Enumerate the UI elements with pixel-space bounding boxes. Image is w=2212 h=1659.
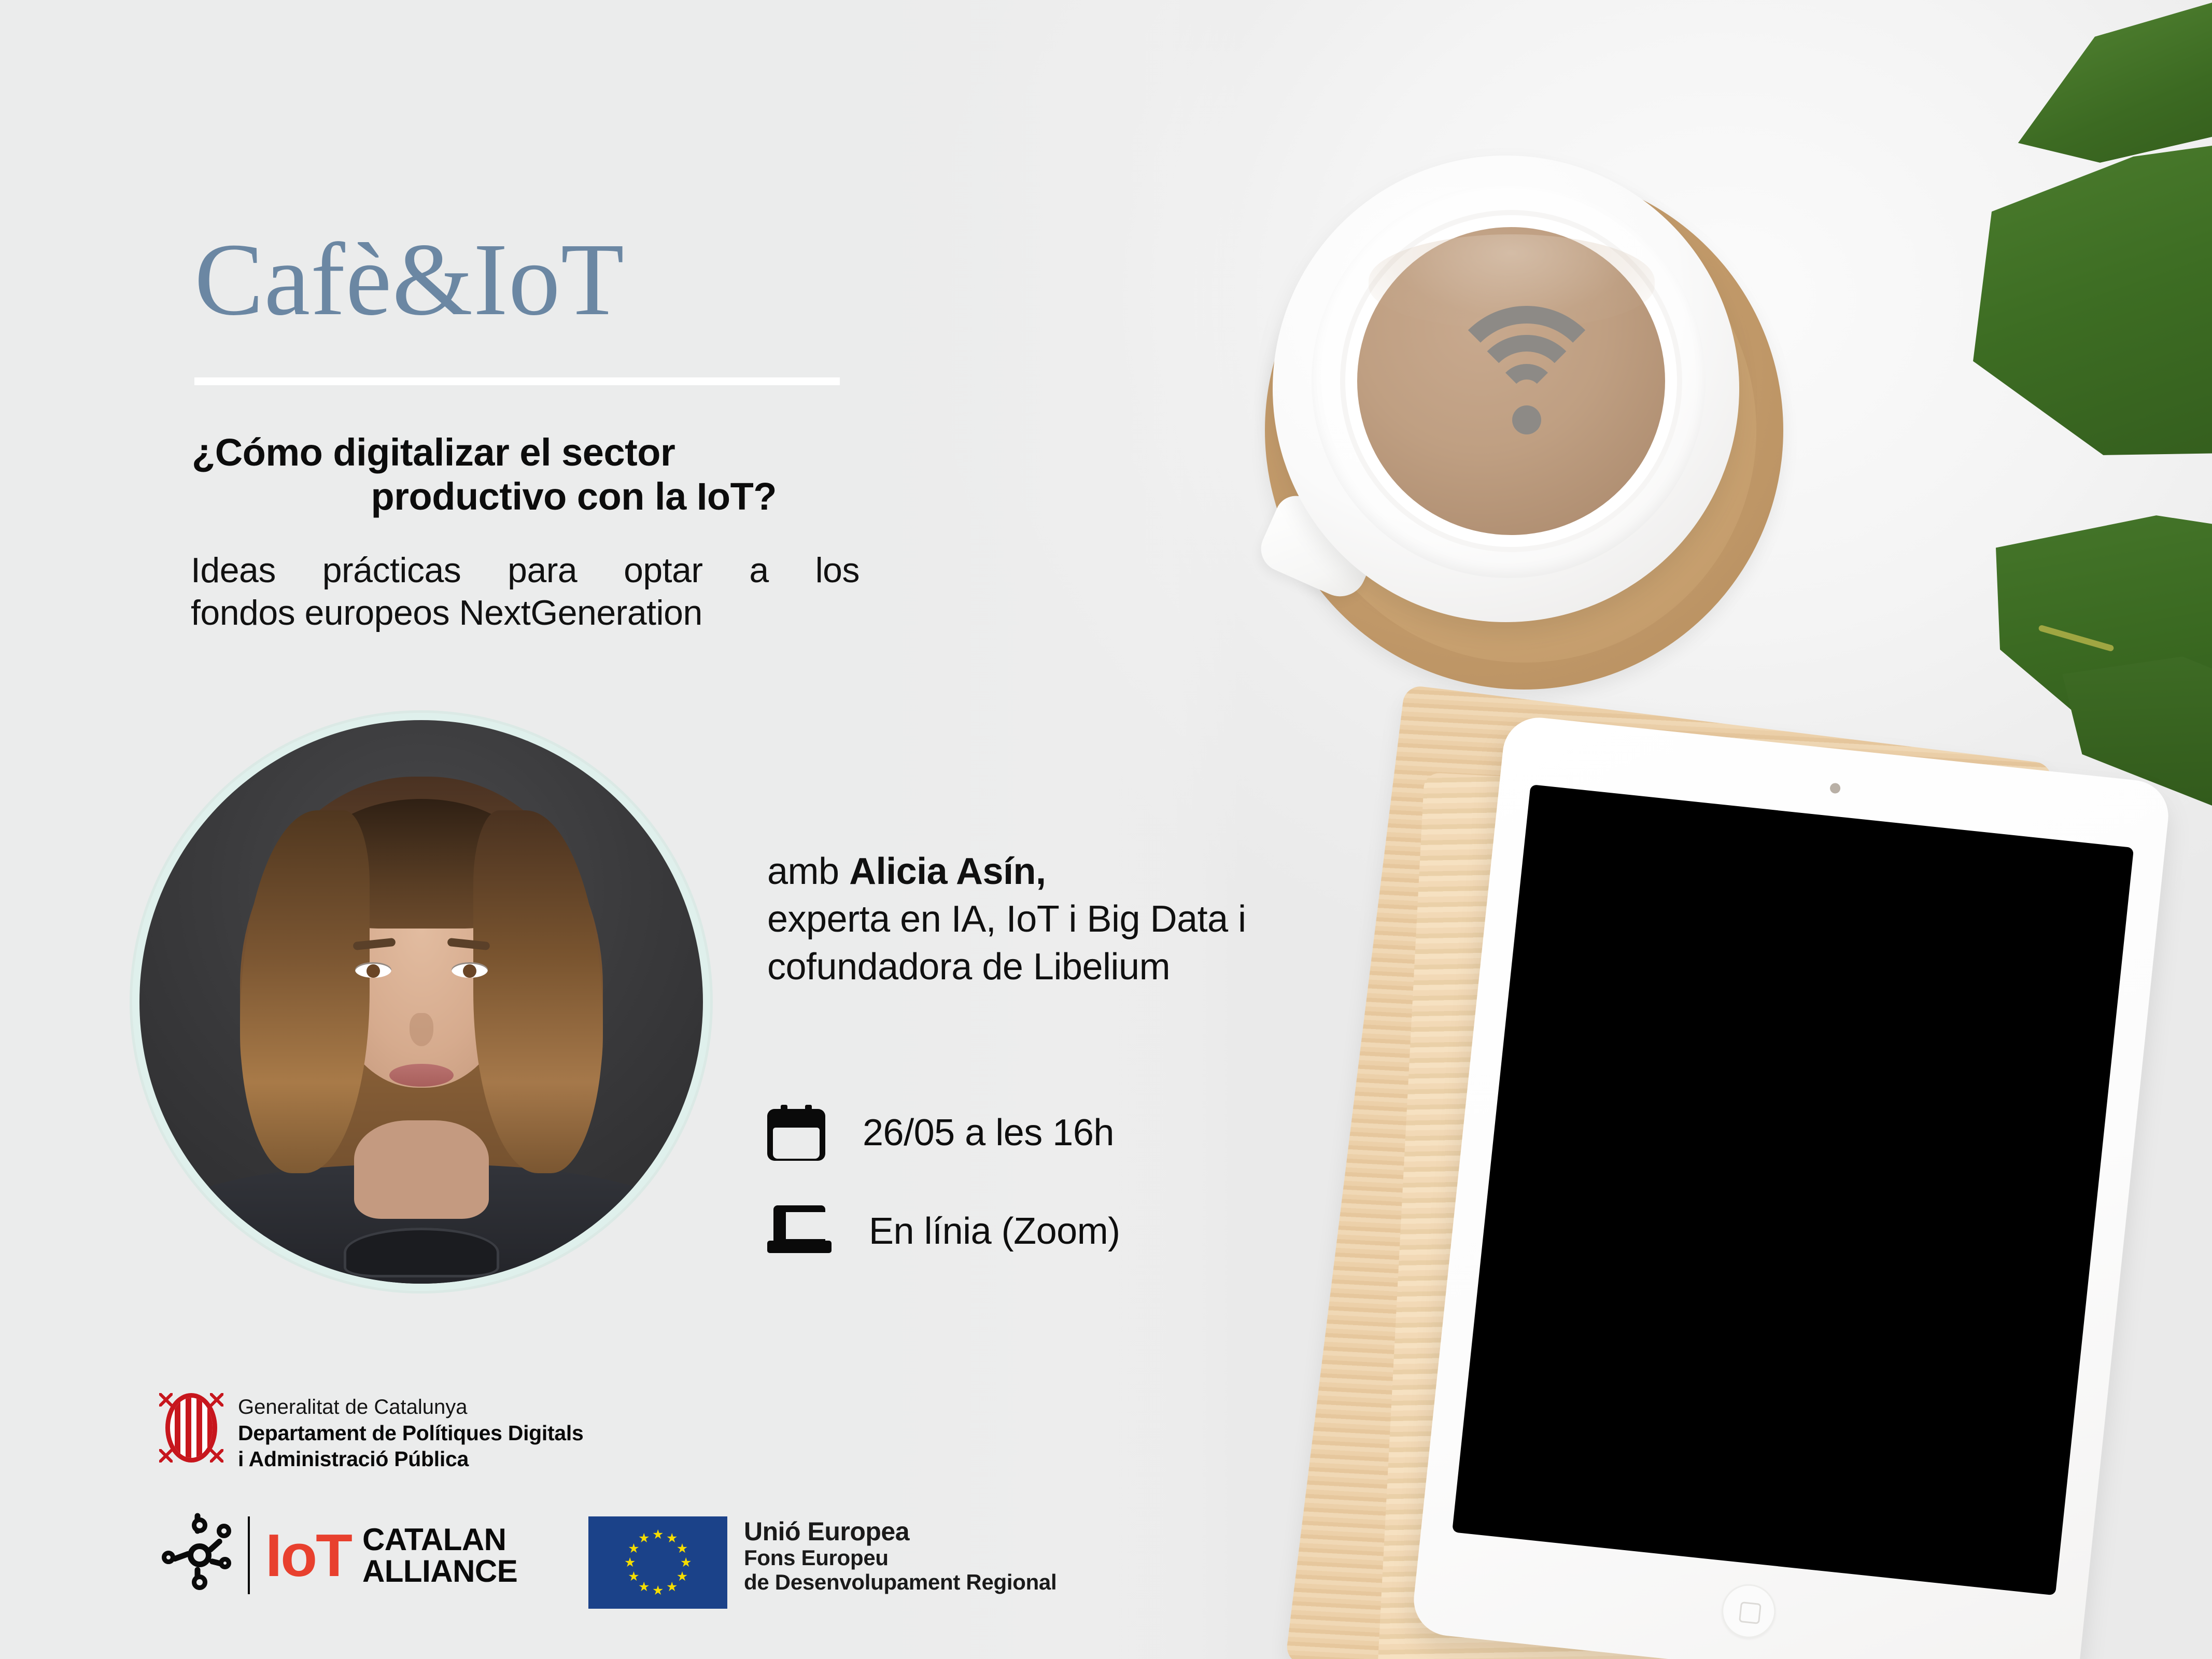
catalan-alliance-wordmark: CATALAN ALLIANCE [362, 1524, 517, 1587]
calendar-body [767, 1109, 825, 1161]
shield-corner-ornament [159, 1393, 173, 1407]
eu-star: ★ [624, 1557, 636, 1568]
generalitat-logo: Generalitat de Catalunya Departament de … [158, 1392, 583, 1472]
event-location-row: En línia (Zoom) [767, 1182, 1120, 1281]
eu-flag-icon: ★★★★★★★★★★★★ [588, 1516, 727, 1609]
eu-star: ★ [628, 1571, 639, 1582]
tablet-home-button [1719, 1582, 1778, 1641]
generalitat-line-3: i Administració Pública [238, 1446, 583, 1472]
portrait-iris-left [367, 964, 380, 978]
alliance-label: ALLIANCE [362, 1555, 517, 1587]
event-poster: Cafè&IoT ¿Cómo digitalizar el sector pro… [0, 0, 2212, 1659]
iot-catalan-alliance-logo: IoT CATALAN ALLIANCE [161, 1516, 517, 1594]
title-divider [194, 377, 840, 385]
eu-star: ★ [628, 1543, 639, 1554]
speaker-photo [139, 720, 703, 1284]
shield-oval [165, 1393, 217, 1463]
generalitat-text: Generalitat de Catalunya Departament de … [238, 1392, 583, 1472]
photo-blend-seam [881, 0, 1244, 1659]
speaker-prefix: amb [767, 851, 849, 892]
network-node [219, 1557, 231, 1569]
eu-star: ★ [666, 1533, 678, 1544]
speaker-name: Alicia Asín, [849, 851, 1046, 892]
eu-star: ★ [677, 1571, 688, 1582]
event-date: 26/05 a les 16h [863, 1112, 1114, 1154]
calendar-icon [767, 1105, 825, 1161]
tablet-screen [1452, 784, 2134, 1595]
portrait-iris-right [463, 964, 476, 978]
logo-divider [248, 1516, 250, 1594]
heading-line-2: productivo con la IoT? [192, 474, 861, 518]
tablet-device [1411, 714, 2172, 1659]
portrait-lips [389, 1064, 454, 1087]
wifi-icon [1444, 306, 1610, 435]
eu-star: ★ [652, 1529, 664, 1540]
eu-star: ★ [638, 1581, 650, 1593]
generalitat-line-1: Generalitat de Catalunya [238, 1394, 583, 1420]
portrait-neck [354, 1120, 489, 1219]
speaker-avatar [132, 713, 710, 1291]
shield-corner-ornament [210, 1449, 223, 1463]
event-location: En línia (Zoom) [869, 1210, 1120, 1253]
heading-line-1: ¿Cómo digitalizar el sector [192, 431, 675, 474]
wifi-dot [1512, 405, 1541, 434]
generalitat-line-2: Departament de Polítiques Digitals [238, 1420, 583, 1446]
portrait-nose [410, 1013, 433, 1046]
eu-star: ★ [638, 1533, 650, 1544]
speaker-info: amb Alicia Asín, experta en IA, IoT i Bi… [767, 848, 1467, 991]
tablet-camera [1829, 782, 1841, 794]
european-union-logo: ★★★★★★★★★★★★ Unió Europea Fons Europeu d… [588, 1516, 1056, 1609]
portrait-hair-left [240, 810, 370, 1173]
speaker-role-line-1: experta en IA, IoT i Big Data i [767, 898, 1246, 940]
eu-star: ★ [652, 1585, 664, 1596]
network-node [192, 1574, 207, 1590]
event-date-row: 26/05 a les 16h [767, 1084, 1120, 1182]
event-meta: 26/05 a les 16h En línia (Zoom) [767, 1084, 1120, 1281]
page-title: Cafè&IoT [194, 228, 625, 332]
shield-bar [175, 1393, 180, 1463]
subheading-line-2: fondos europeos NextGeneration [191, 592, 860, 635]
shield-corner-ornament [159, 1449, 173, 1463]
catalonia-shield-icon [158, 1392, 224, 1464]
laptop-icon [767, 1204, 832, 1258]
eu-star: ★ [677, 1543, 688, 1554]
portrait-hair-right [473, 810, 603, 1173]
eu-line-3: de Desenvolupament Regional [744, 1570, 1056, 1594]
shield-corner-ornament [210, 1393, 223, 1407]
calendar-page [773, 1128, 820, 1159]
laptop-screen [786, 1212, 825, 1239]
event-subheading: Ideas prácticas para optar a los fondos … [191, 550, 860, 634]
network-nodes-icon [161, 1516, 238, 1594]
eu-text: Unió Europea Fons Europeu de Desenvolupa… [744, 1516, 1056, 1594]
network-node [217, 1524, 231, 1538]
laptop-lid [773, 1205, 825, 1244]
shield-bar [196, 1393, 202, 1463]
network-node [162, 1551, 175, 1564]
subheading-line-1: Ideas prácticas para optar a los [191, 550, 860, 592]
eu-line-1: Unió Europea [744, 1517, 1056, 1545]
iot-wordmark: IoT [265, 1525, 351, 1585]
catalan-label: CATALAN [362, 1524, 517, 1555]
portrait-neckline [344, 1228, 499, 1277]
event-heading: ¿Cómo digitalizar el sector productivo c… [192, 430, 861, 518]
shield-bar [186, 1393, 191, 1463]
network-node [192, 1517, 207, 1533]
laptop-base [767, 1241, 832, 1253]
eu-star: ★ [666, 1581, 678, 1593]
eu-line-2: Fons Europeu [744, 1545, 1056, 1570]
speaker-role-line-2: cofundadora de Libelium [767, 946, 1170, 988]
network-hub [188, 1543, 212, 1567]
eu-star: ★ [680, 1557, 692, 1568]
